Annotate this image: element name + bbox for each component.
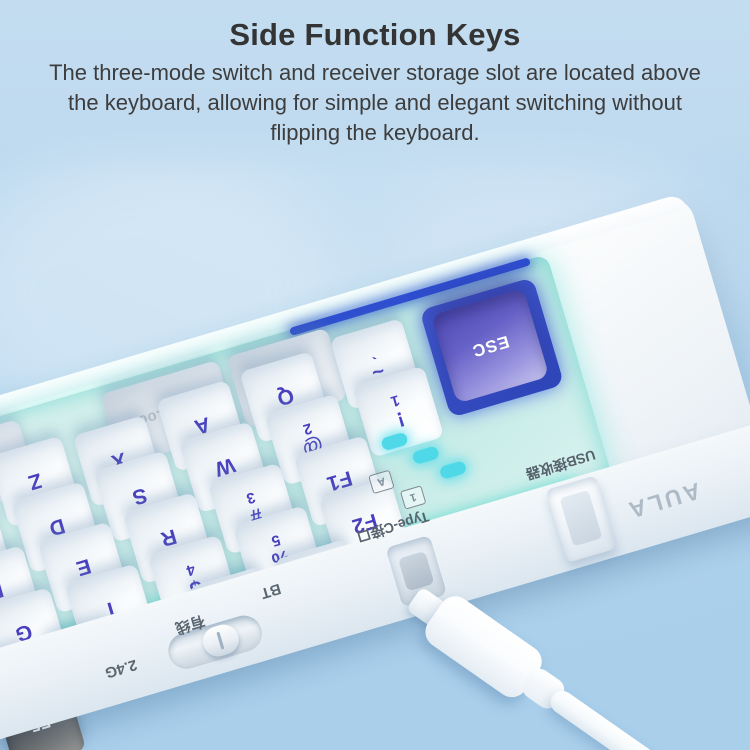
mode-label-bt: BT: [259, 580, 283, 602]
page-title: Side Function Keys: [0, 0, 750, 52]
usb-c-wire: [546, 686, 750, 750]
mode-label-24g: 2.4G: [103, 656, 139, 682]
header: Side Function Keys The three-mode switch…: [0, 0, 750, 180]
brand-logo: AULA: [623, 477, 703, 524]
usb-receiver-slot[interactable]: [546, 475, 617, 563]
page-subtitle: The three-mode switch and receiver stora…: [0, 52, 750, 148]
product-image: Side Function Keys The three-mode switch…: [0, 0, 750, 750]
